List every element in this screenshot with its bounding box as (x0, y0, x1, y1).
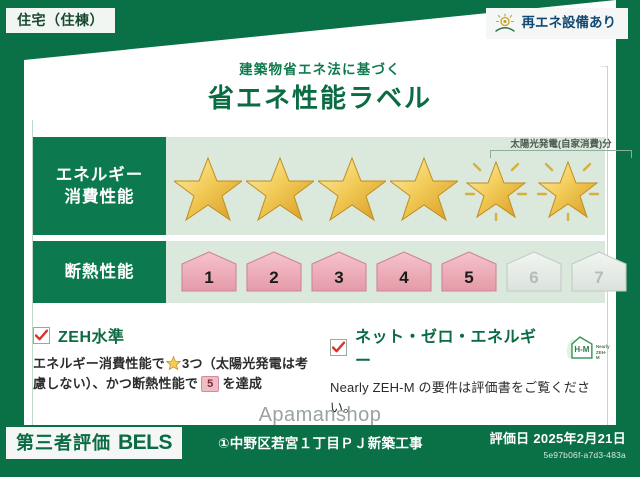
energy-performance-body: 太陽光発電(自家消費)分 (166, 137, 605, 235)
watermark: Apamanshop (0, 404, 640, 427)
insulation-body: 1 2 3 4 (166, 241, 605, 303)
insulation-level-number: 1 (178, 268, 240, 288)
insulation-level-number: 4 (373, 268, 435, 288)
renewable-equipment-badge: 再エネ設備あり (486, 8, 629, 39)
page-title: 省エネ性能ラベル (0, 78, 640, 115)
zeh-m-sub-zehm: ZEH-M (596, 350, 610, 360)
energy-caption-line2: 消費性能 (65, 186, 135, 208)
checkmark-icon (33, 327, 50, 344)
renewable-badge-label: 再エネ設備あり (522, 16, 617, 30)
star-filled (246, 150, 314, 222)
insulation-level: 3 (308, 250, 370, 294)
insulation-level-inactive: 6 (503, 250, 565, 294)
bels-badge-jp: 第三者評価 (16, 434, 111, 452)
star-solar (534, 150, 602, 222)
star-filled (174, 150, 242, 222)
zeh-text-star-count: 3つ（太陽光発電 (182, 356, 282, 371)
document-id: 5e97b06f-a7d3-483a (490, 450, 626, 460)
zeh-m-logo-sublabel: Nearly ZEH-M (596, 344, 610, 360)
header-subtitle: 建築物省エネ法に基づく (0, 58, 640, 78)
insulation-level: 4 (373, 250, 435, 294)
zeh-criteria-text: エネルギー消費性能で 3つ（太陽光発電は考慮しない）、かつ断熱性能で5を達成 (33, 354, 318, 394)
nzeb-criteria-header: ネット・ゼロ・エネルギー H-M Nearly ZEH-M (330, 323, 610, 371)
insulation-level: 1 (178, 250, 240, 294)
insulation-level-number: 6 (503, 268, 565, 288)
insulation-level: 5 (438, 250, 500, 294)
insulation-level-number: 5 (438, 268, 500, 288)
insulation-performance-row: 断熱性能 1 2 (33, 241, 605, 303)
insulation-caption: 断熱性能 (33, 241, 166, 303)
star-filled (390, 150, 458, 222)
zeh-m-logo-icon: H-M Nearly ZEH-M (564, 334, 610, 360)
star-rating-group (166, 137, 605, 235)
sun-icon (494, 13, 516, 33)
energy-performance-caption: エネルギー 消費性能 (33, 137, 166, 235)
evaluation-info: 評価日 2025年2月21日 5e97b06f-a7d3-483a (490, 428, 626, 460)
nzeb-criteria-title: ネット・ゼロ・エネルギー (355, 323, 552, 371)
zeh-insulation-badge: 5 (201, 376, 219, 392)
checkmark-icon (330, 339, 347, 356)
insulation-level-inactive: 7 (568, 250, 630, 294)
zeh-text-part3: を達成 (222, 376, 262, 391)
zeh-text-part1: エネルギー消費性能で (33, 356, 165, 371)
zeh-m-sub-nearly: Nearly (596, 344, 610, 349)
svg-text:H-M: H-M (574, 345, 589, 354)
zeh-criteria-header: ZEH水準 (33, 323, 318, 347)
bels-badge-en: BELS (118, 432, 172, 453)
insulation-level: 2 (243, 250, 305, 294)
inline-star-icon (166, 356, 181, 370)
insulation-level-number: 2 (243, 268, 305, 288)
property-address: ①中野区若宮１丁目ＰＪ新築工事 (218, 432, 423, 452)
zeh-criteria-title: ZEH水準 (58, 323, 125, 347)
star-filled (318, 150, 386, 222)
housing-type-tag: 住宅（住棟） (6, 8, 115, 33)
insulation-level-group: 1 2 3 4 (166, 241, 605, 303)
zeh-criteria-block: ZEH水準 エネルギー消費性能で 3つ（太陽光発電は考慮しない）、かつ断熱性能で… (33, 323, 318, 394)
star-solar (462, 150, 530, 222)
evaluation-date: 評価日 2025年2月21日 (490, 428, 626, 447)
energy-caption-line1: エネルギー (56, 164, 144, 186)
insulation-level-number: 7 (568, 268, 630, 288)
label-canvas: 住宅（住棟） 再エネ設備あり 建築物省エネ法に基づく 省エネ性能ラベル エネルギ… (0, 0, 640, 477)
energy-performance-row: エネルギー 消費性能 太陽光発電(自家消費)分 (33, 137, 605, 235)
insulation-level-number: 3 (308, 268, 370, 288)
bels-badge: 第三者評価 BELS (6, 427, 182, 459)
